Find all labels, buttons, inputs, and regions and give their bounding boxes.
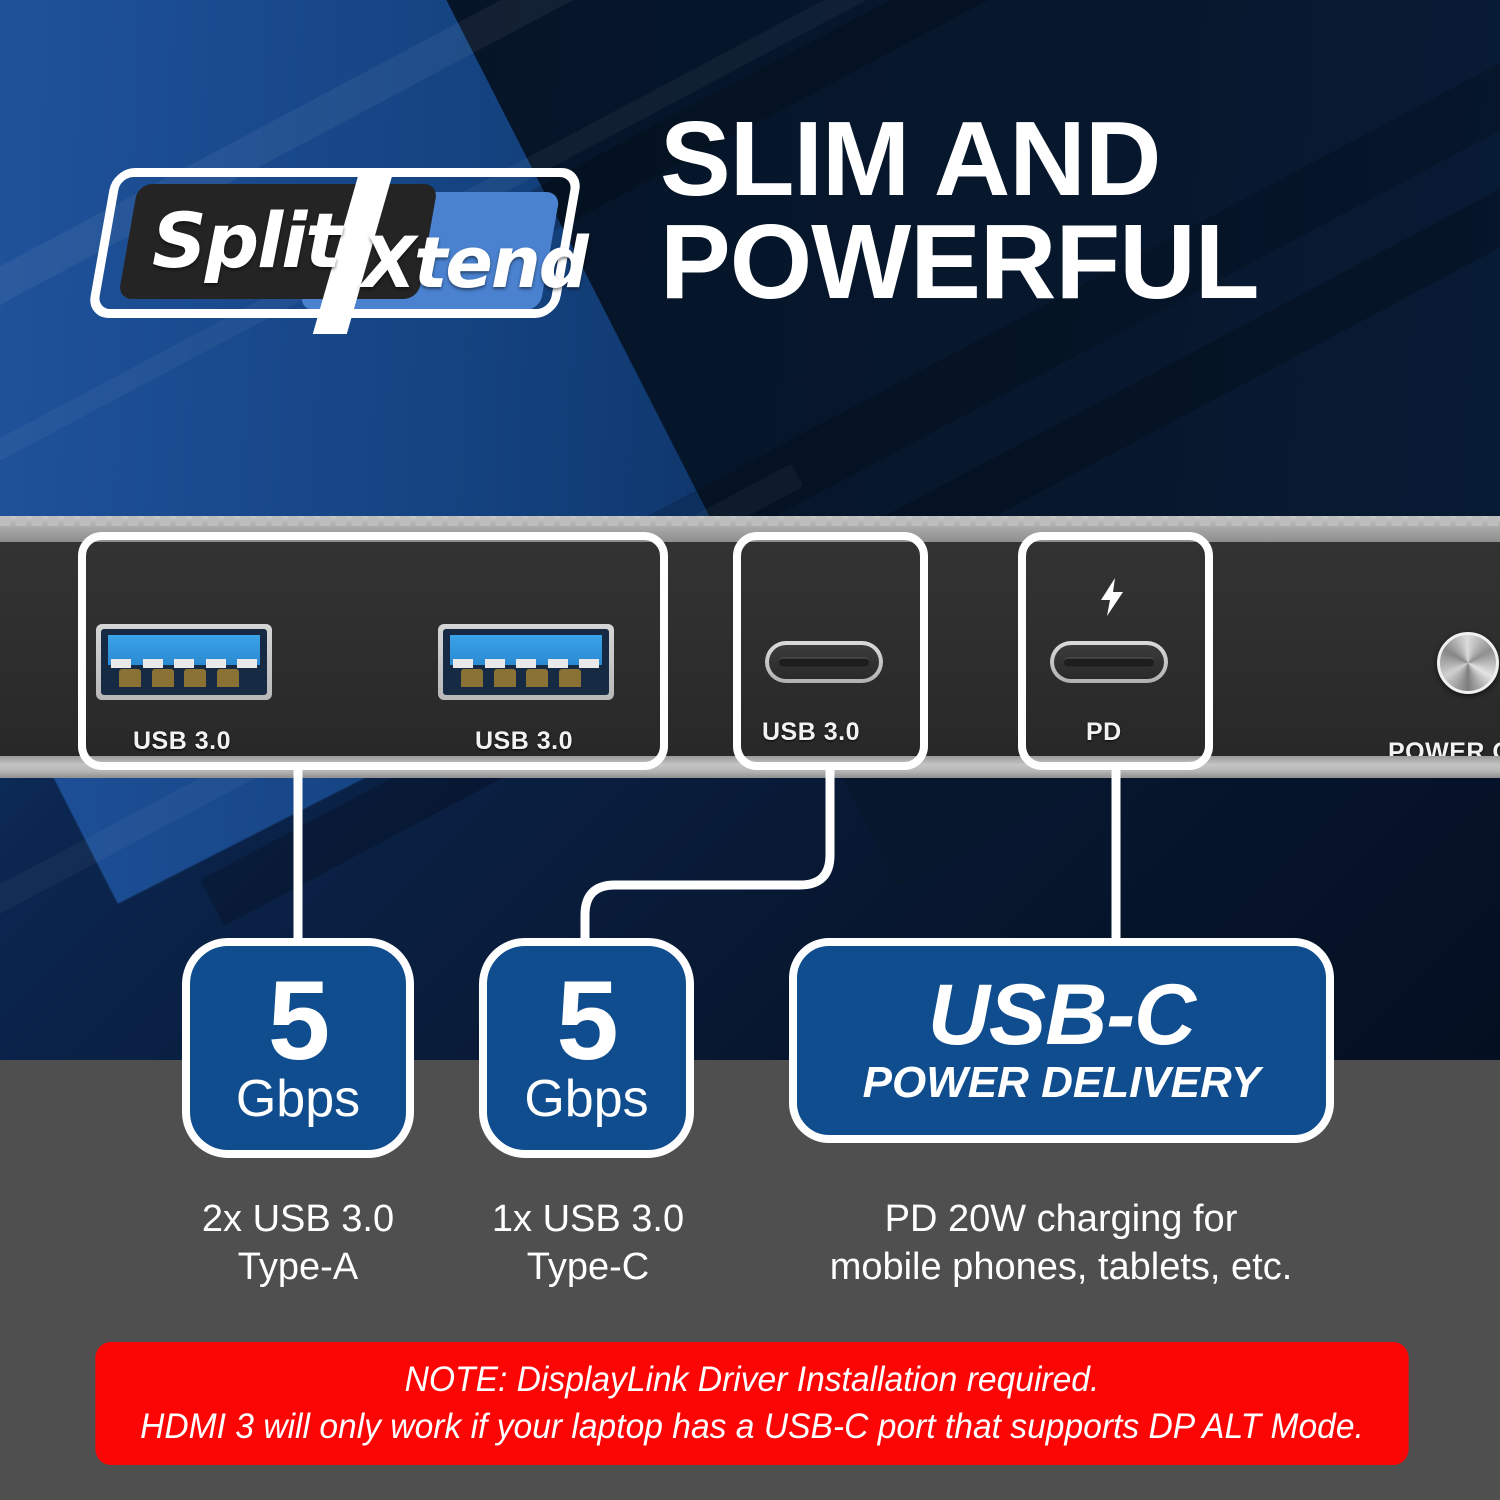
caption-usb-a-line-2: Type-A bbox=[148, 1244, 448, 1292]
caption-pd: PD 20W charging for mobile phones, table… bbox=[786, 1196, 1336, 1291]
feature-badge-usb-c-unit: Gbps bbox=[524, 1073, 648, 1125]
feature-badge-usb-a-value: 5 bbox=[268, 971, 328, 1072]
feature-badge-usb-c: 5 Gbps bbox=[479, 938, 694, 1158]
feature-badge-pd-subtitle: POWER DELIVERY bbox=[863, 1060, 1261, 1106]
note-line-2: HDMI 3 will only work if your laptop has… bbox=[140, 1404, 1364, 1451]
connector-line-usb-c-data bbox=[585, 770, 830, 960]
caption-usb-a-line-1: 2x USB 3.0 bbox=[148, 1196, 448, 1244]
caption-usb-c: 1x USB 3.0 Type-C bbox=[443, 1196, 733, 1291]
feature-badge-pd: USB-C POWER DELIVERY bbox=[789, 938, 1334, 1143]
caption-pd-line-2: mobile phones, tablets, etc. bbox=[786, 1244, 1336, 1292]
caption-usb-c-line-2: Type-C bbox=[443, 1244, 733, 1292]
feature-badge-usb-c-value: 5 bbox=[556, 971, 616, 1072]
feature-badge-pd-title: USB-C bbox=[928, 975, 1195, 1057]
caption-usb-a: 2x USB 3.0 Type-A bbox=[148, 1196, 448, 1291]
note-banner: NOTE: DisplayLink Driver Installation re… bbox=[95, 1342, 1408, 1465]
feature-badge-usb-a: 5 Gbps bbox=[182, 938, 414, 1158]
note-line-1: NOTE: DisplayLink Driver Installation re… bbox=[405, 1357, 1100, 1404]
feature-badge-usb-a-unit: Gbps bbox=[236, 1073, 360, 1125]
caption-pd-line-1: PD 20W charging for bbox=[786, 1196, 1336, 1244]
caption-usb-c-line-1: 1x USB 3.0 bbox=[443, 1196, 733, 1244]
